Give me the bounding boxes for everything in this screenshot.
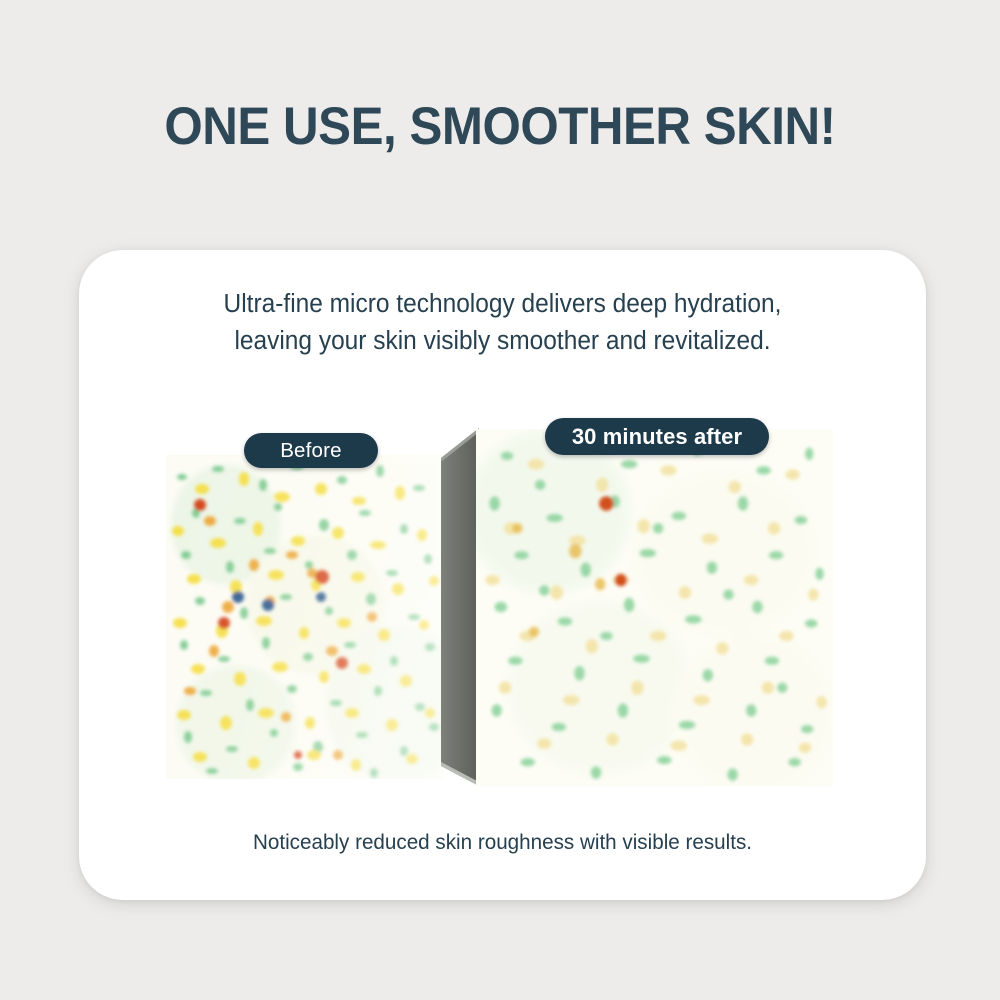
intro-line-1: Ultra-fine micro technology delivers dee… bbox=[96, 286, 909, 323]
intro-line-2: leaving your skin visibly smoother and r… bbox=[96, 323, 909, 360]
before-image bbox=[166, 455, 444, 779]
after-label-text: 30 minutes after bbox=[572, 424, 742, 450]
after-label-badge: 30 minutes after bbox=[545, 418, 769, 455]
before-label-text: Before bbox=[280, 439, 342, 463]
after-image bbox=[481, 434, 828, 781]
result-caption: Noticeably reduced skin roughness with v… bbox=[96, 828, 909, 856]
page-title: ONE USE, SMOOTHER SKIN! bbox=[35, 96, 965, 158]
after-image-frame bbox=[476, 429, 833, 786]
depth-side-panel-shape bbox=[441, 428, 481, 788]
depth-side-panel bbox=[441, 428, 481, 788]
after-texture-svg bbox=[481, 434, 828, 781]
intro-text: Ultra-fine micro technology delivers dee… bbox=[96, 286, 909, 360]
before-label-badge: Before bbox=[244, 433, 378, 468]
before-texture-svg bbox=[166, 455, 444, 779]
